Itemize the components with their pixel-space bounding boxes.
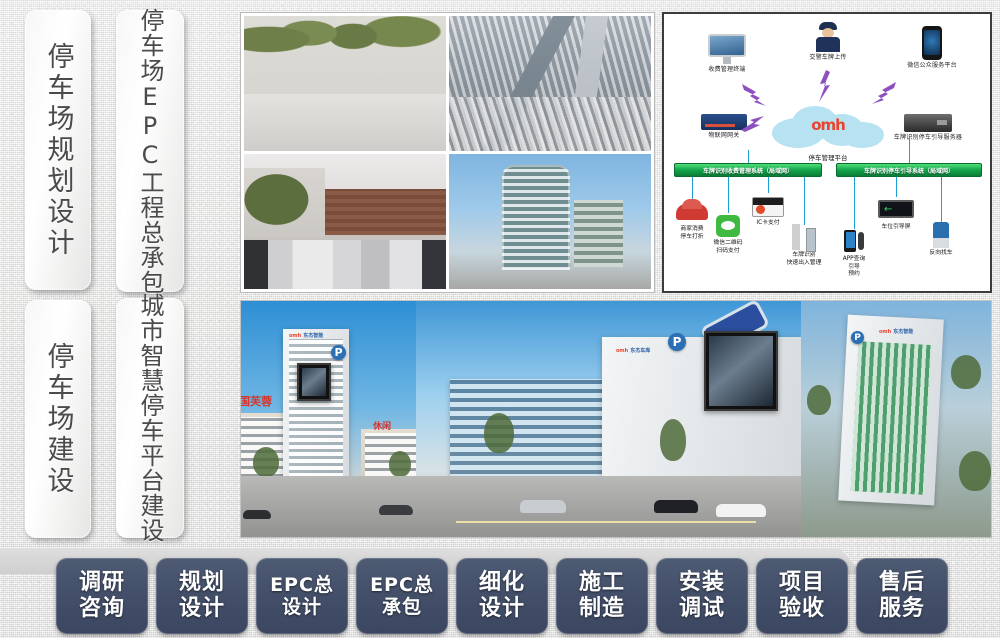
rendering-aerial-tower-garage: P omh东杰智能 <box>801 301 991 537</box>
step-line-2: 承包 <box>382 596 422 618</box>
link-line <box>941 177 942 223</box>
step-epc-design[interactable]: EPC总 设计 <box>256 558 348 634</box>
step-survey-consulting[interactable]: 调研 咨询 <box>56 558 148 634</box>
parking-site-photos <box>240 12 655 293</box>
sidebar-item-epc-contracting[interactable]: 停车场EPC工程总承包 <box>116 10 184 292</box>
gate-icon <box>792 224 800 250</box>
step-line-1: 施工 <box>579 570 625 596</box>
sidebar-item-label: 停车场EPC工程总承包 <box>138 8 162 295</box>
leaf-label: APP查询 引导 预约 <box>826 256 882 279</box>
lightning-connector-icon <box>740 114 776 134</box>
police-icon <box>816 22 840 52</box>
leaf-ic-card-payment: IC卡支付 <box>740 192 796 228</box>
step-line-2: 服务 <box>879 596 925 622</box>
step-line-1: 安装 <box>679 570 725 596</box>
sidebar-item-construction[interactable]: 停车场建设 <box>25 300 91 538</box>
step-line-2: 设计 <box>282 596 322 618</box>
process-steps-bar: 调研 咨询 规划 设计 EPC总 设计 EPC总 承包 细化 设计 施工 制造 … <box>56 558 1000 636</box>
link-line <box>768 177 769 193</box>
lightning-connector-icon <box>814 68 836 108</box>
omh-logo: omh东杰智能 <box>877 327 913 335</box>
node-lpr-guidance-server: 车牌识别停车引导服务器 <box>874 114 982 142</box>
step-line-2: 调试 <box>679 596 725 622</box>
system-bar-title: 车牌识别收费管理系统（局域网） <box>703 166 793 175</box>
system-bar-lpr-parking-guidance: 车牌识别停车引导系统（局域网） <box>836 163 982 177</box>
link-line <box>896 177 897 197</box>
step-line-1: 规划 <box>179 570 225 596</box>
node-label: 车牌识别停车引导服务器 <box>874 134 982 142</box>
link-line <box>909 136 910 163</box>
wechat-icon <box>716 215 740 237</box>
step-after-sales[interactable]: 售后 服务 <box>856 558 948 634</box>
parking-p-badge: P <box>668 333 686 351</box>
step-line-1: 细化 <box>479 570 525 596</box>
parking-p-badge: P <box>851 331 864 344</box>
node-wechat-public-platform: 微信公众服务平台 <box>886 26 978 70</box>
leaf-label: 车牌识别 快速出入管理 <box>776 252 832 267</box>
step-detailed-design[interactable]: 细化 设计 <box>456 558 548 634</box>
kiosk-icon <box>933 222 949 248</box>
signage-text: 休闲 <box>373 419 391 432</box>
link-line <box>692 177 693 199</box>
smart-parking-network-topology: 收费管理终端 交警车牌上传 微信公众服务平台 物联网网关 车牌识别停车引导服务器 <box>662 12 992 293</box>
step-epc-contracting[interactable]: EPC总 承包 <box>356 558 448 634</box>
link-line <box>804 177 805 225</box>
system-bar-title: 车牌识别停车引导系统（局域网） <box>864 166 954 175</box>
step-line-1: EPC总 <box>370 574 434 596</box>
signage-text: 国芙蓉 <box>241 393 272 409</box>
step-line-2: 验收 <box>779 596 825 622</box>
omh-logo: omh东杰智能 <box>287 331 323 339</box>
node-charge-management-terminal: 收费管理终端 <box>690 34 764 74</box>
led-screen-icon <box>878 200 914 218</box>
step-install-commission[interactable]: 安装 调试 <box>656 558 748 634</box>
step-line-2: 设计 <box>179 596 225 622</box>
link-line <box>748 150 749 163</box>
monitor-icon <box>708 34 746 64</box>
link-line <box>854 177 855 229</box>
photo-surface-lot-trees <box>244 16 446 151</box>
billboard <box>704 331 778 411</box>
phone-icon <box>922 26 942 60</box>
node-traffic-police-upload: 交警车牌上传 <box>792 22 864 62</box>
server-icon <box>904 114 952 132</box>
leaf-lpr-fast-entry-exit: 车牌识别 快速出入管理 <box>776 224 832 267</box>
sidebar-item-label: 停车场建设 <box>45 342 72 497</box>
step-line-2: 咨询 <box>79 596 125 622</box>
person-icon <box>858 232 864 250</box>
link-line <box>728 177 729 213</box>
sidebar-item-label: 城市智慧停车平台建设 <box>138 293 162 543</box>
omh-logo: omh <box>798 116 858 134</box>
cloud-label: 停车管理平台 <box>766 152 890 162</box>
cloud-parking-management-platform: omh 停车管理平台 <box>772 104 884 150</box>
omh-logo: omh东杰车库 <box>614 345 650 355</box>
step-construction-mfg[interactable]: 施工 制造 <box>556 558 648 634</box>
node-label: 收费管理终端 <box>690 66 764 74</box>
photo-aerial-parking-view <box>449 16 651 151</box>
leaf-label: 微信二维码 扫码支付 <box>700 240 756 255</box>
photo-lot-brick-building <box>244 154 446 289</box>
app-icon <box>844 230 856 252</box>
sidebar-item-label: 停车场规划设计 <box>45 42 72 259</box>
step-line-1: 项目 <box>779 570 825 596</box>
step-line-2: 制造 <box>579 596 625 622</box>
step-line-1: EPC总 <box>270 574 334 596</box>
step-line-2: 设计 <box>479 596 525 622</box>
leaf-app-query-guidance: APP查询 引导 预约 <box>826 228 882 279</box>
step-project-acceptance[interactable]: 项目 验收 <box>756 558 848 634</box>
billboard <box>297 363 331 401</box>
node-label: 交警车牌上传 <box>792 54 864 62</box>
step-planning-design[interactable]: 规划 设计 <box>156 558 248 634</box>
parking-p-badge: P <box>331 345 346 360</box>
rendering-tower-garage-street: omh东杰智能 P 国芙蓉 休闲 <box>241 301 416 537</box>
rendering-multilevel-garage: omh东杰车库 P <box>416 301 801 537</box>
leaf-label: 反向找车 <box>913 250 969 258</box>
leaf-reverse-car-finding: 反向找车 <box>913 222 969 258</box>
step-line-1: 售后 <box>879 570 925 596</box>
photo-glass-office-tower <box>449 154 651 289</box>
node-label: 微信公众服务平台 <box>886 62 978 70</box>
sidebar-item-planning-design[interactable]: 停车场规划设计 <box>25 10 91 290</box>
parking-garage-renderings: omh东杰智能 P 国芙蓉 休闲 omh东杰车库 P P omh <box>240 300 992 538</box>
step-line-1: 调研 <box>79 570 125 596</box>
card-icon <box>752 197 784 217</box>
sidebar-item-smart-platform[interactable]: 城市智慧停车平台建设 <box>116 298 184 538</box>
system-bar-lpr-charge-management: 车牌识别收费管理系统（局域网） <box>674 163 822 177</box>
